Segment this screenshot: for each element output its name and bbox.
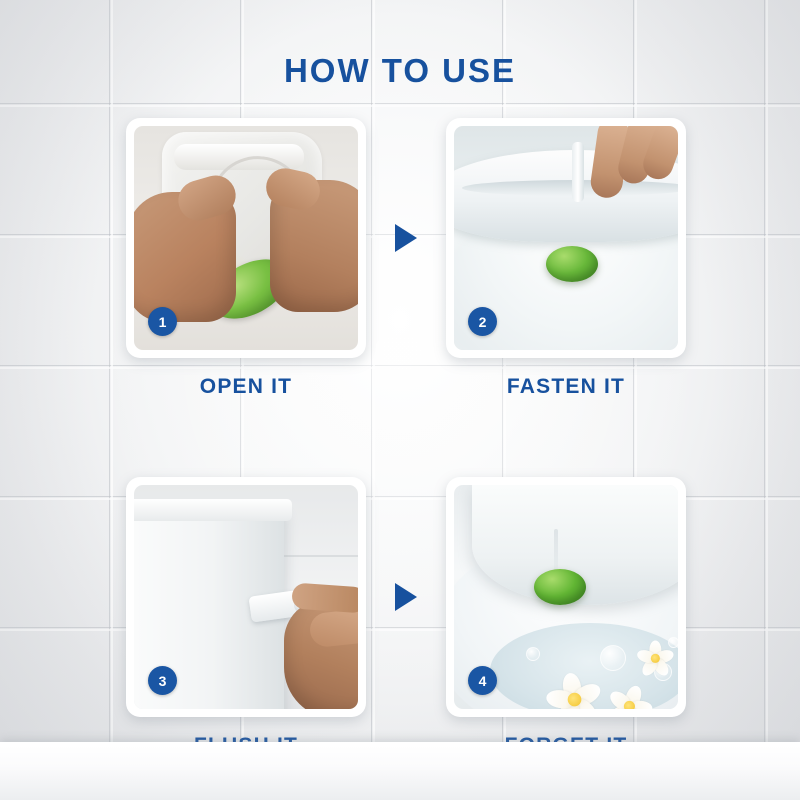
applicator-clip (554, 529, 558, 573)
step-1-photo: 1 (134, 126, 358, 350)
step-card-3[interactable]: 3 FLUSH IT (126, 477, 366, 758)
step-number-badge: 2 (468, 307, 497, 336)
step-1-image-card: 1 (126, 118, 366, 358)
flower-icon (639, 642, 671, 674)
index-finger (291, 582, 358, 613)
step-1-caption: OPEN IT (126, 375, 366, 399)
step-2-caption: FASTEN IT (446, 375, 686, 399)
step-number-badge: 1 (148, 307, 177, 336)
flower-icon (545, 670, 604, 709)
steps-row-top: 1 OPEN IT (126, 118, 686, 399)
step-2-photo: 2 (454, 126, 678, 350)
bubble (600, 645, 626, 671)
step-4-image-card: 4 (446, 477, 686, 717)
green-gel-stamp (546, 246, 598, 282)
step-2-image-card: 2 (446, 118, 686, 358)
counter-ledge (0, 742, 800, 800)
bubble (526, 647, 540, 661)
steps-row-bottom: 3 FLUSH IT (126, 477, 686, 758)
step-3-image-card: 3 (126, 477, 366, 717)
step-number-badge: 3 (148, 666, 177, 695)
poster-canvas: HOW TO USE 1 (0, 0, 800, 800)
applicator-clip (572, 142, 584, 202)
tank-lid (134, 499, 292, 521)
steps-grid: 1 OPEN IT (126, 118, 686, 758)
step-number-badge: 4 (468, 666, 497, 695)
green-gel-stamp (534, 569, 586, 605)
rim-shadow-line (462, 180, 678, 196)
arrow-step-3-to-4 (366, 477, 446, 717)
step-4-photo: 4 (454, 485, 678, 709)
flower-icon (608, 685, 651, 709)
step-card-2[interactable]: 2 FASTEN IT (446, 118, 686, 399)
step-card-1[interactable]: 1 OPEN IT (126, 118, 366, 399)
step-card-4[interactable]: 4 FORGET IT (446, 477, 686, 758)
step-3-photo: 3 (134, 485, 358, 709)
page-title: HOW TO USE (0, 52, 800, 90)
arrow-step-1-to-2 (366, 118, 446, 358)
